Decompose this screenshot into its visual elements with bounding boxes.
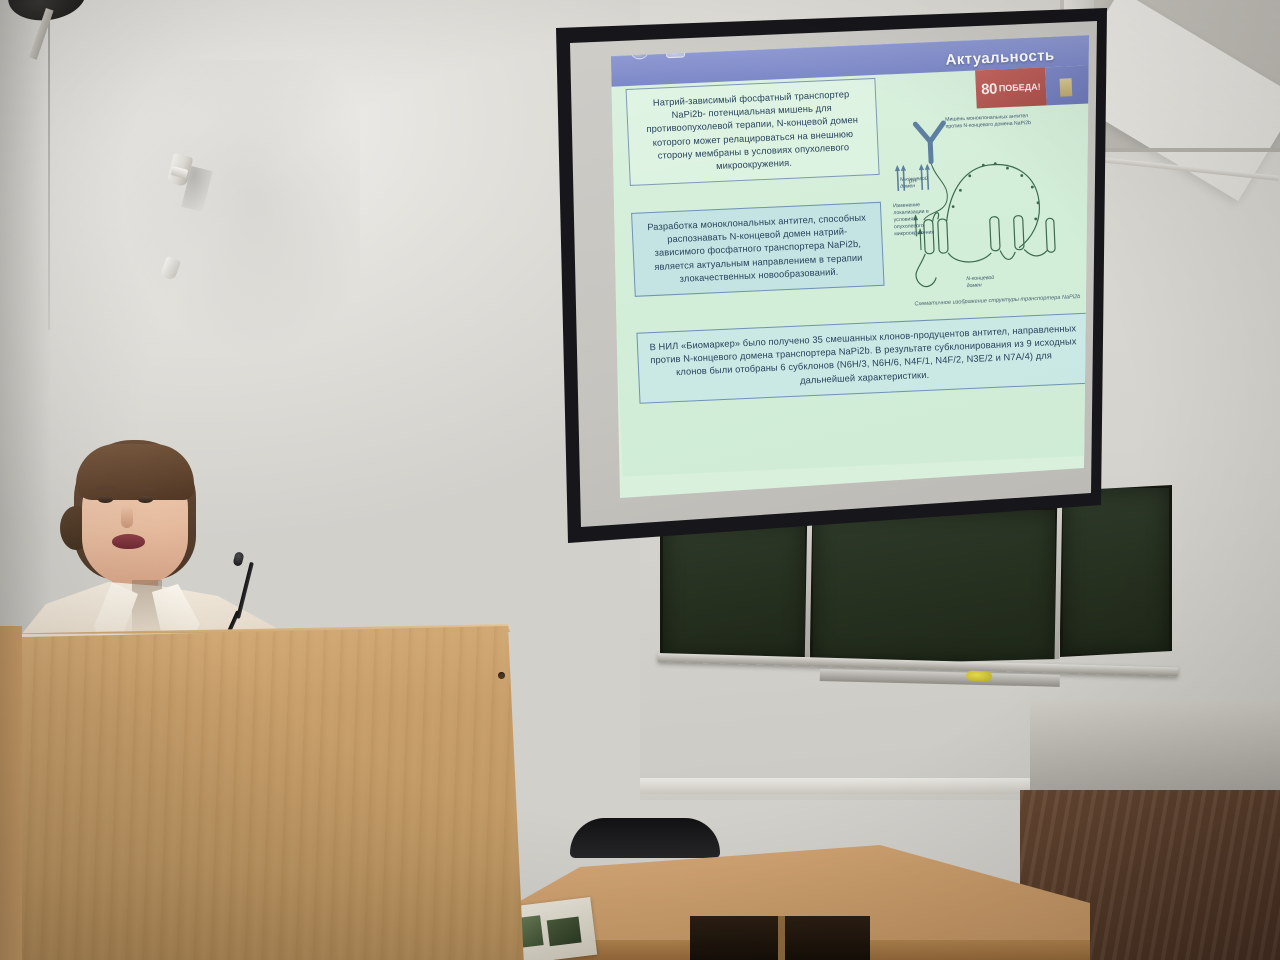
figure-note-localization: Изменение локализации в условиях опухоле… [893, 201, 939, 238]
figure-label-n-terminal-bottom: N-концевой домен [966, 274, 1011, 290]
slide-content: ✹ ⌂ Актуальность 80 ПОБЕДА! Натрий-завис… [603, 10, 1115, 501]
eye-right [138, 496, 153, 503]
projection-screen: ✹ ⌂ Актуальность 80 ПОБЕДА! Натрий-завис… [541, 8, 1107, 543]
mouth [112, 534, 145, 549]
nose [121, 506, 133, 528]
hair-front [76, 444, 194, 500]
chair-backrest [570, 818, 720, 858]
slide-page: ✹ ⌂ Актуальность 80 ПОБЕДА! Натрий-завис… [603, 10, 1114, 476]
wall-base-trim [640, 778, 1040, 794]
wall-shading [120, 60, 360, 360]
presenter [20, 430, 290, 660]
yellow-object-icon [966, 671, 992, 682]
slide-surface: ✹ ⌂ Актуальность 80 ПОБЕДА! Натрий-завис… [541, 8, 1107, 543]
slide-text-block-2: Разработка моноклональных антител, спосо… [631, 202, 884, 297]
podium-front-panel [0, 626, 524, 960]
slide-text-block-3: В НИЛ «Биомаркер» было получено 35 смеша… [636, 313, 1091, 404]
podium-side-panel [0, 626, 22, 960]
emblem-icon [1060, 78, 1073, 97]
podium-wood-grain [0, 626, 524, 960]
napi2b-structure-figure: pH [889, 108, 1098, 317]
slide-text-block-1: Натрий-зависимый фосфатный транспортер N… [626, 78, 880, 186]
table-shelf-divider [778, 916, 785, 960]
podium-screw-hole [498, 672, 505, 679]
figure-label-n-terminal-top: N-концевой домен [900, 175, 941, 191]
document-image-right [547, 917, 582, 947]
victory-anniversary-banner: 80 ПОБЕДА! [975, 67, 1047, 108]
victory-number: 80 [981, 80, 997, 98]
victory-text: ПОБЕДА! [999, 82, 1041, 94]
lecture-hall-scene: ✹ ⌂ Актуальность 80 ПОБЕДА! Натрий-завис… [0, 0, 1280, 960]
wall-seam [48, 0, 50, 330]
eye-left [98, 496, 113, 503]
